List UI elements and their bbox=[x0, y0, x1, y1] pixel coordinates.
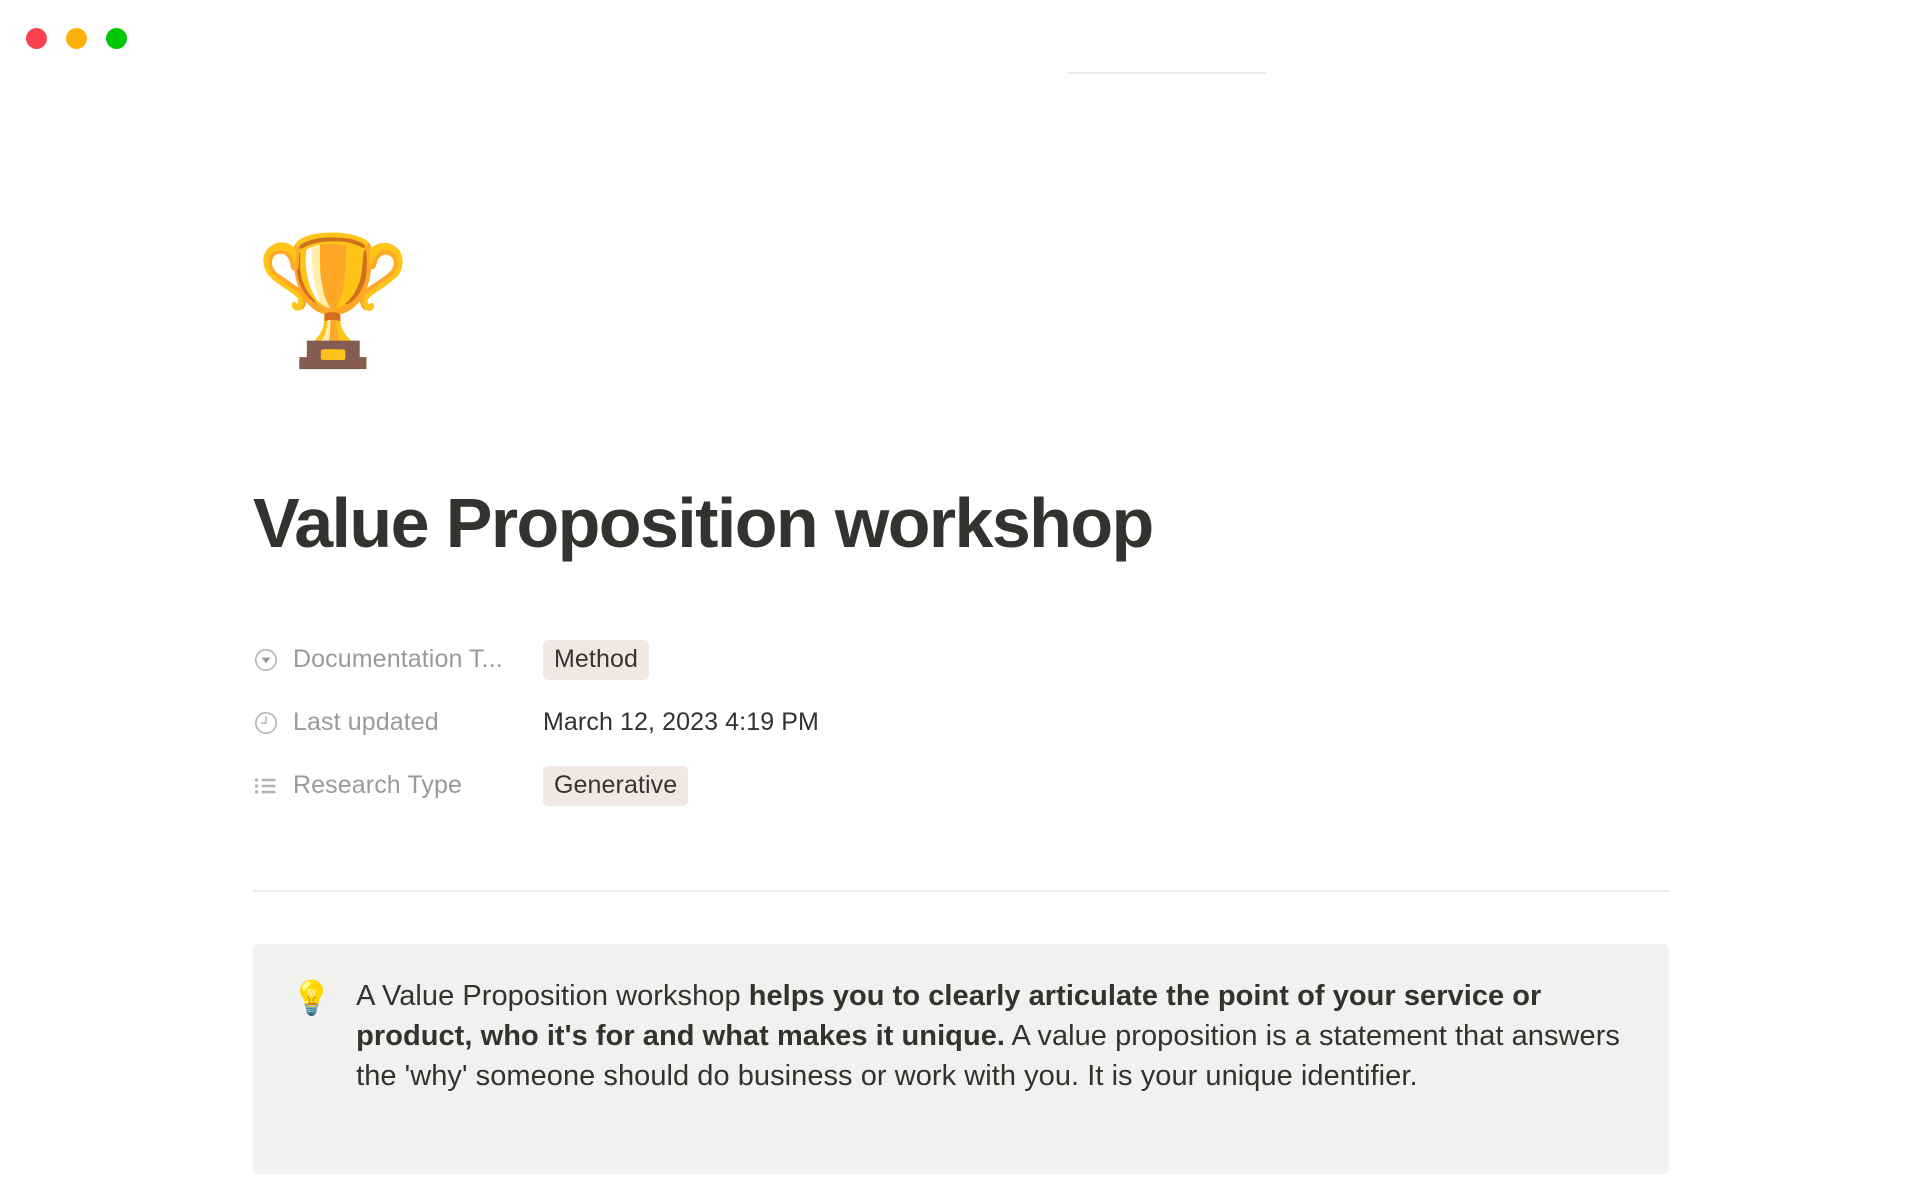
active-tab-underline bbox=[1067, 72, 1266, 74]
trophy-emoji[interactable]: 🏆 bbox=[255, 238, 412, 364]
callout-block[interactable]: 💡 A Value Proposition workshop helps you… bbox=[253, 944, 1669, 1174]
traffic-light-group bbox=[26, 28, 127, 49]
property-label-research-type[interactable]: Research Type bbox=[253, 771, 543, 800]
callout-text-lead: A Value Proposition workshop bbox=[356, 980, 749, 1012]
content-divider bbox=[253, 890, 1669, 892]
property-value-documentation-type[interactable]: Method bbox=[543, 640, 649, 680]
property-label-text: Research Type bbox=[293, 771, 462, 800]
minimize-window-button[interactable] bbox=[66, 28, 87, 49]
property-label-text: Last updated bbox=[293, 708, 439, 737]
list-icon bbox=[253, 773, 279, 799]
callout-text[interactable]: A Value Proposition workshop helps you t… bbox=[356, 976, 1629, 1138]
property-value-last-updated[interactable]: March 12, 2023 4:19 PM bbox=[543, 708, 819, 737]
status-badge-generative[interactable]: Generative bbox=[543, 766, 688, 806]
property-label-last-updated[interactable]: Last updated bbox=[253, 708, 543, 737]
property-label-text: Documentation T... bbox=[293, 645, 503, 674]
property-row-documentation-type: Documentation T... Method bbox=[253, 628, 1673, 691]
lightbulb-emoji[interactable]: 💡 bbox=[291, 976, 332, 1138]
window-titlebar bbox=[0, 0, 1920, 72]
property-row-research-type: Research Type Generative bbox=[253, 754, 1673, 817]
property-label-documentation-type[interactable]: Documentation T... bbox=[253, 645, 543, 674]
clock-icon bbox=[253, 710, 279, 736]
page-title[interactable]: Value Proposition workshop bbox=[253, 486, 1673, 562]
property-row-last-updated: Last updated March 12, 2023 4:19 PM bbox=[253, 691, 1673, 754]
select-chevron-circle-icon bbox=[253, 647, 279, 673]
close-window-button[interactable] bbox=[26, 28, 47, 49]
page-properties: Documentation T... Method Last updated bbox=[253, 628, 1673, 817]
maximize-window-button[interactable] bbox=[106, 28, 127, 49]
property-value-research-type[interactable]: Generative bbox=[543, 766, 688, 806]
app-window: 🏆 Value Proposition workshop Documentati… bbox=[0, 0, 1920, 1200]
status-badge-method[interactable]: Method bbox=[543, 640, 649, 680]
